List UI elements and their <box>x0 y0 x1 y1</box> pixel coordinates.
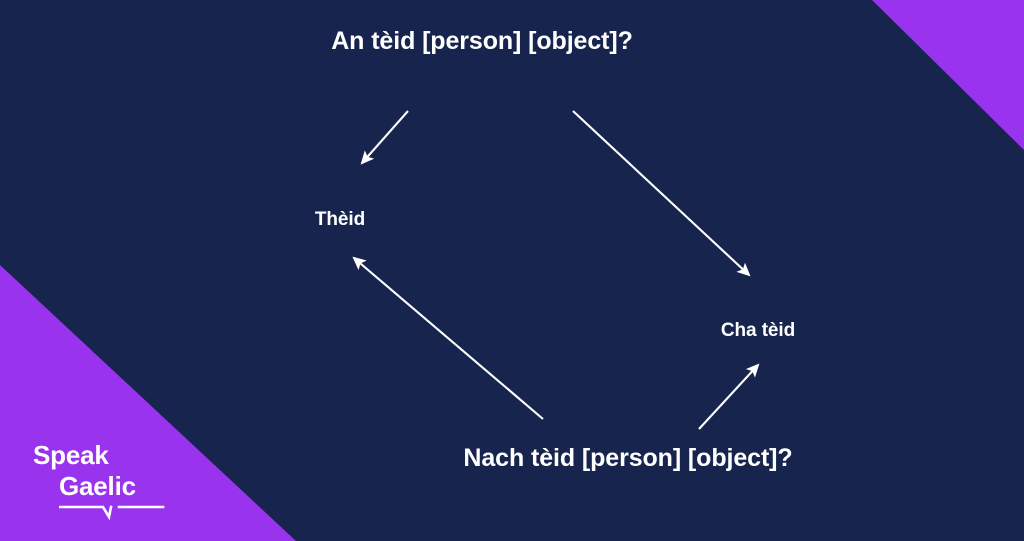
arrow-negative-question-to-negative-answer <box>699 365 758 429</box>
node-answer-negative: Cha tèid <box>668 319 848 342</box>
brand-logo: Speak Gaelic <box>33 440 213 521</box>
arrow-positive-question-to-negative-answer <box>573 111 749 275</box>
speech-bubble-underline-icon <box>59 505 165 521</box>
node-question-positive: An tèid [person] [object]? <box>312 26 652 57</box>
arrow-negative-question-to-positive-answer <box>354 258 543 419</box>
node-question-negative: Nach tèid [person] [object]? <box>458 443 798 474</box>
node-answer-positive: Thèid <box>250 208 430 231</box>
slide-canvas: An tèid [person] [object]? Thèid Cha tèi… <box>0 0 1024 541</box>
brand-logo-line-gaelic: Gaelic <box>33 471 213 502</box>
brand-logo-line-speak: Speak <box>33 440 213 471</box>
arrow-positive-question-to-positive-answer <box>362 111 408 163</box>
